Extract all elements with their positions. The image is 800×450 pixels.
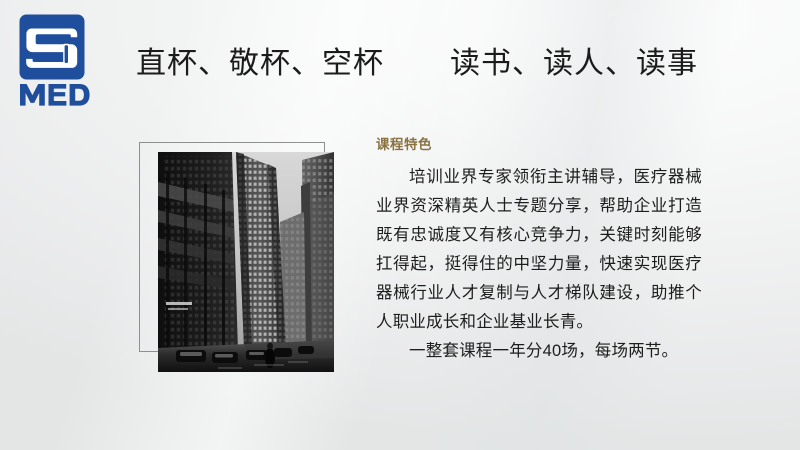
body-paragraph-1: 培训业界专家领衔主讲辅导，医疗器械业界资深精英人士专题分享，帮助企业打造既有忠诚…	[376, 163, 702, 337]
slide-title: 直杯、敬杯、空杯 读书、读人、读事	[136, 36, 736, 92]
s-monogram-icon	[19, 14, 85, 80]
photo-block	[139, 142, 335, 372]
city-street-photo	[158, 152, 334, 372]
body-paragraph-2: 一整套课程一年分40场，每场两节。	[376, 337, 702, 366]
brand-logo	[16, 14, 90, 110]
section-heading: 课程特色	[376, 136, 702, 154]
title-left-phrase: 直杯、敬杯、空杯	[136, 42, 384, 86]
content-column: 课程特色 培训业界专家领衔主讲辅导，医疗器械业界资深精英人士专题分享，帮助企业打…	[376, 136, 702, 366]
title-right-phrase: 读书、读人、读事	[450, 42, 698, 86]
logo-wordmark	[18, 80, 90, 110]
slide-canvas: 直杯、敬杯、空杯 读书、读人、读事	[0, 0, 800, 450]
